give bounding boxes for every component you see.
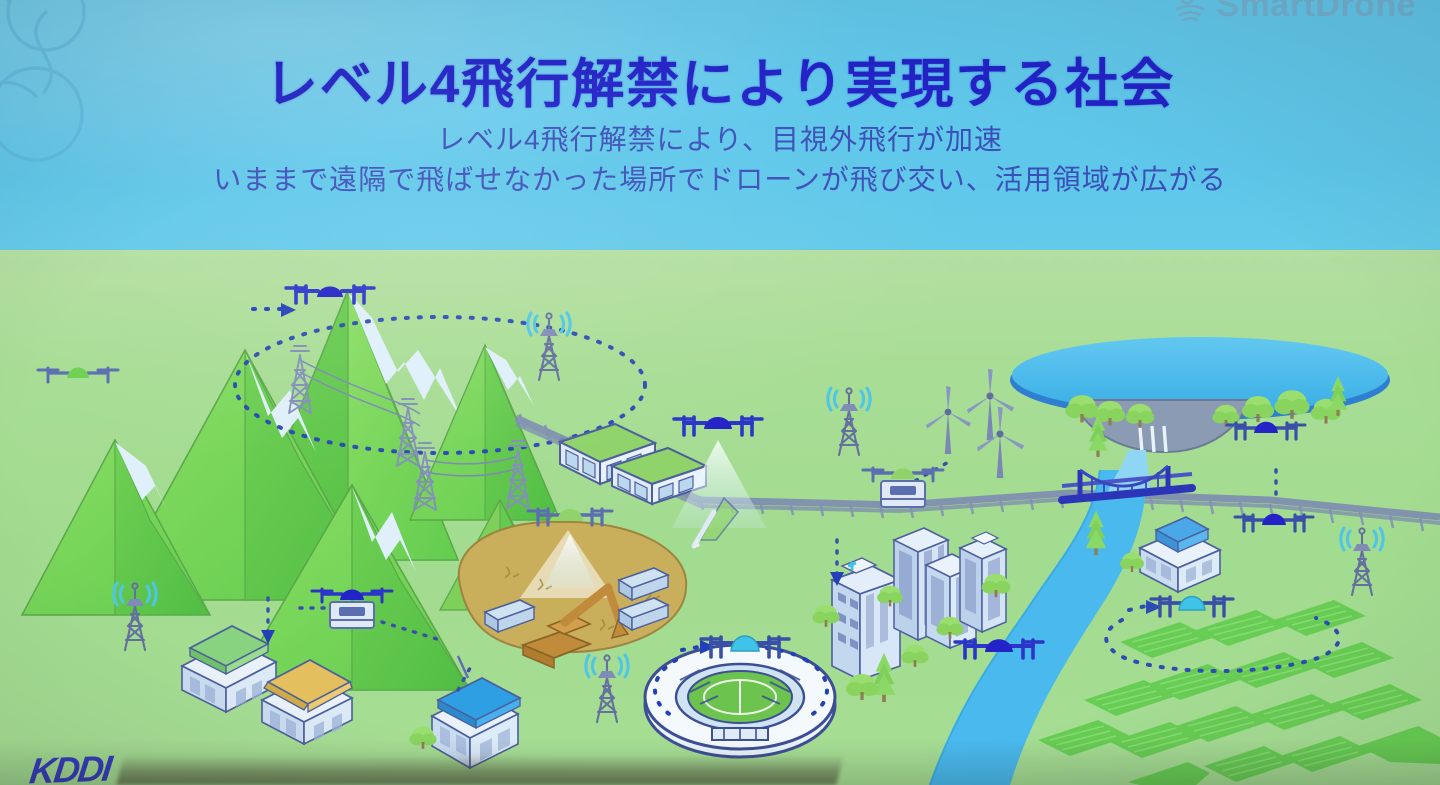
- drone-rightfield: [1235, 514, 1313, 531]
- region-city: [812, 528, 1010, 702]
- cell-tower-river: [828, 388, 870, 455]
- building-hospital: [832, 558, 900, 680]
- projected-slide: レベル4飛行解禁により実現する社会 レベル4飛行解禁により、目視外飛行が加速 い…: [0, 0, 1440, 785]
- region-stadium: [645, 640, 835, 757]
- smartdrone-logo-text: SmartDrone: [1216, 0, 1416, 25]
- page-subtitle: レベル4飛行解禁により、目視外飛行が加速 いままで遠隔で飛ばせなかった場所でドロ…: [0, 120, 1440, 200]
- drone-farmland: [1151, 597, 1233, 617]
- region-wind-farm: [926, 369, 1024, 478]
- region-railway: [516, 414, 1440, 548]
- cell-tower-right: [1341, 528, 1383, 595]
- smartdrone-logo: SmartDrone: [1173, 0, 1416, 25]
- orbit-arrow-head: [281, 303, 296, 317]
- cell-tower-village: [114, 583, 156, 650]
- cell-tower-center: [586, 655, 628, 722]
- page-title: レベル4飛行解禁により実現する社会: [0, 42, 1440, 118]
- cell-tower-mountain: [528, 313, 570, 380]
- region-construction: [459, 522, 686, 668]
- smartdrone-mark-icon: [1173, 0, 1207, 23]
- kddi-logo: KDDI: [27, 748, 113, 785]
- subtitle-line-2: いままで遠隔で飛ばせなかった場所でドローンが飛び交い、活用領域が広がる: [0, 160, 1440, 200]
- drone-rail-inspect: [674, 417, 762, 435]
- drone-hillside-left: [38, 368, 118, 383]
- drone-dam: [1227, 422, 1305, 439]
- region-farmland: [1038, 600, 1440, 785]
- subtitle-line-1: レベル4飛行解禁により、目視外飛行が加速: [437, 124, 1003, 155]
- drone-mountain-peak: [286, 286, 374, 303]
- slide-photo: レベル4飛行解禁により実現する社会 レベル4飛行解禁により、目視外飛行が加速 い…: [0, 0, 1440, 785]
